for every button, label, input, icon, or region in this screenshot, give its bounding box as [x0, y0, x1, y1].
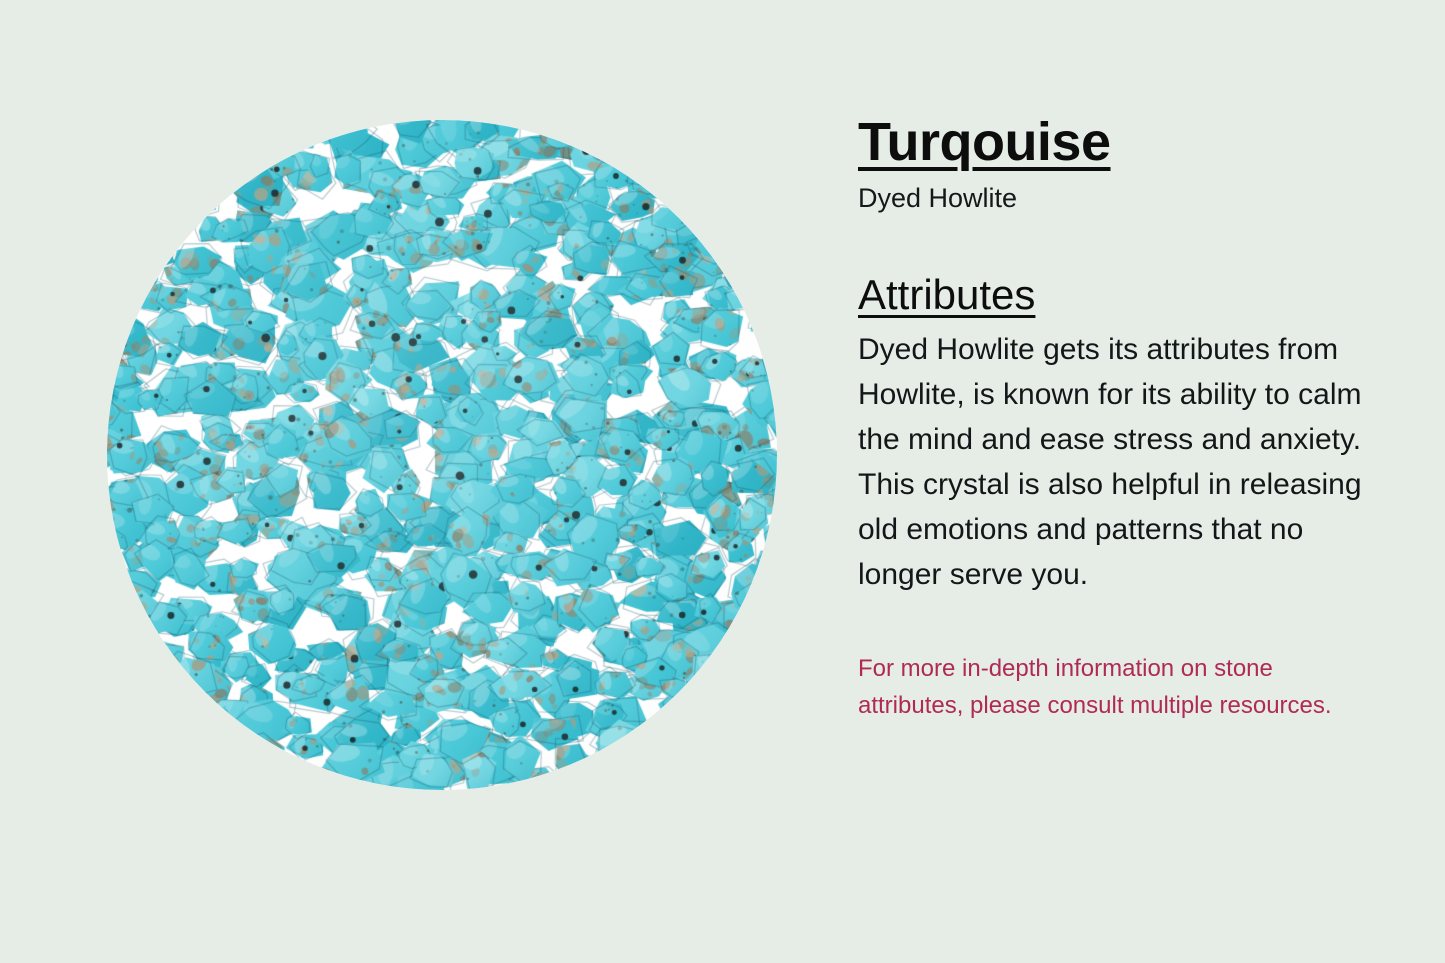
product-info-card: Turqouise Dyed Howlite Attributes Dyed H… — [0, 0, 1445, 963]
stone-photo-canvas — [107, 120, 777, 790]
attributes-section: Attributes Dyed Howlite gets its attribu… — [858, 272, 1370, 597]
stone-subtitle: Dyed Howlite — [858, 182, 1370, 214]
disclaimer-note: For more in-depth information on stone a… — [858, 650, 1370, 724]
page-title: Turqouise — [858, 112, 1370, 172]
turquoise-chips-circle-image — [107, 120, 777, 790]
attributes-paragraph-1: Dyed Howlite gets its attributes from Ho… — [858, 327, 1370, 462]
attributes-paragraph-2: This crystal is also helpful in releasin… — [858, 462, 1370, 597]
stone-info-panel: Turqouise Dyed Howlite Attributes Dyed H… — [858, 112, 1370, 724]
attributes-heading: Attributes — [858, 272, 1370, 318]
